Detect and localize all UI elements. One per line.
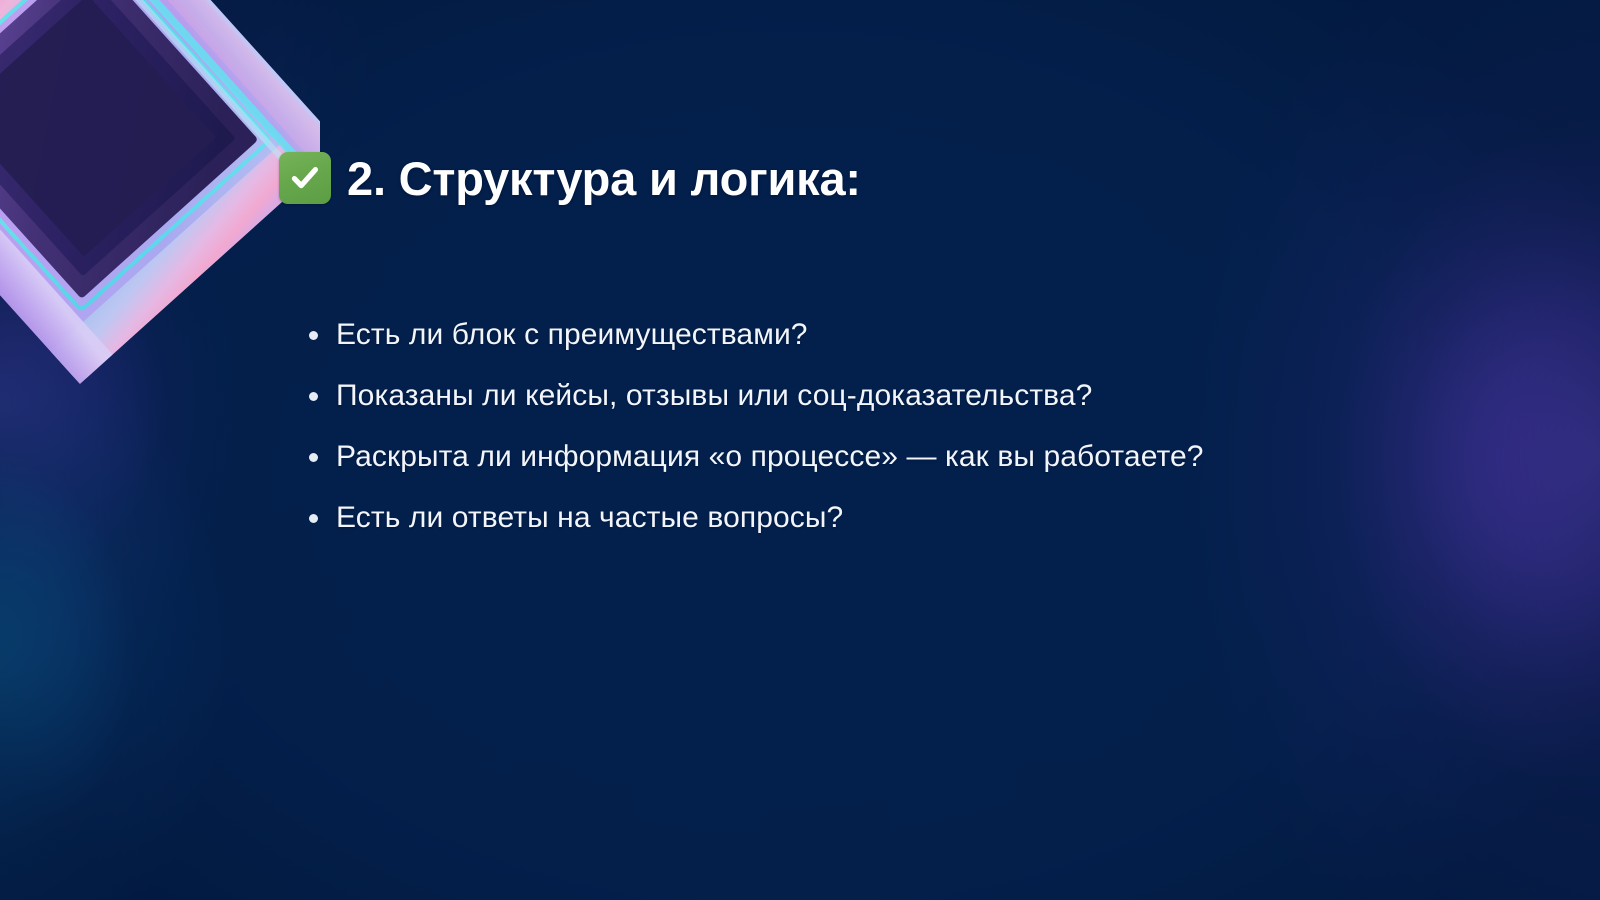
list-item: Раскрыта ли информация «о процессе» — ка… [300, 429, 1560, 490]
presentation-slide: 2. Структура и логика: Есть ли блок с пр… [0, 0, 1600, 900]
list-item: Есть ли ответы на частые вопросы? [300, 490, 1560, 551]
bullet-dot-icon [300, 368, 336, 424]
bullet-dot-icon [300, 429, 336, 485]
list-item: Есть ли блок с преимуществами? [300, 307, 1560, 368]
page-title: 2. Структура и логика: [347, 155, 861, 202]
checklist: Есть ли блок с преимуществами? Показаны … [300, 307, 1560, 551]
list-item-label: Есть ли блок с преимуществами? [336, 307, 808, 363]
white-heavy-check-mark-icon [279, 152, 331, 204]
list-item-label: Есть ли ответы на частые вопросы? [336, 490, 843, 546]
list-item-label: Показаны ли кейсы, отзывы или соц-доказа… [336, 368, 1092, 424]
list-item: Показаны ли кейсы, отзывы или соц-доказа… [300, 368, 1560, 429]
slide-heading: 2. Структура и логика: [279, 147, 861, 209]
slide-content: 2. Структура и логика: Есть ли блок с пр… [0, 0, 1600, 900]
bullet-dot-icon [300, 490, 336, 546]
bullet-dot-icon [300, 307, 336, 363]
list-item-label: Раскрыта ли информация «о процессе» — ка… [336, 429, 1204, 485]
